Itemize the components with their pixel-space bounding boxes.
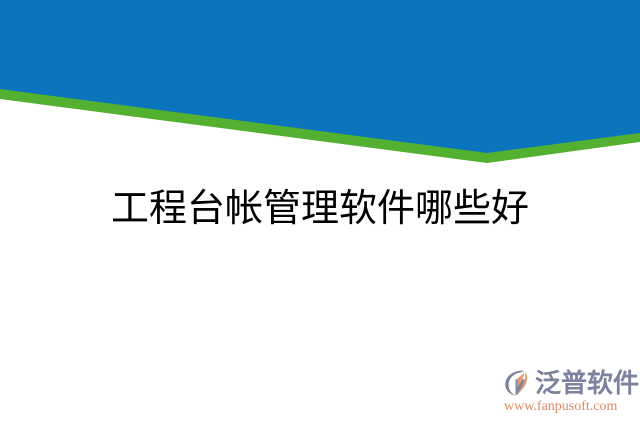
brand-watermark: 泛普软件 www.fanpusoft.com: [503, 366, 637, 421]
brand-row: 泛普软件: [503, 366, 637, 399]
slide-canvas: 工程台帐管理软件哪些好 泛普软件 www.fanpusoft.com: [0, 0, 640, 427]
brand-url: www.fanpusoft.com: [503, 398, 637, 416]
blue-chevron-shape: [0, 0, 640, 153]
top-chevron-banner: [0, 0, 640, 175]
banner-shapes: [0, 0, 640, 175]
page-title-text: 工程台帐管理软件哪些好: [111, 186, 529, 232]
brand-name: 泛普软件: [535, 368, 639, 398]
green-stripe-shape: [0, 86, 640, 163]
fanpu-swoosh-icon: [503, 368, 533, 398]
page-title: 工程台帐管理软件哪些好: [0, 186, 640, 232]
